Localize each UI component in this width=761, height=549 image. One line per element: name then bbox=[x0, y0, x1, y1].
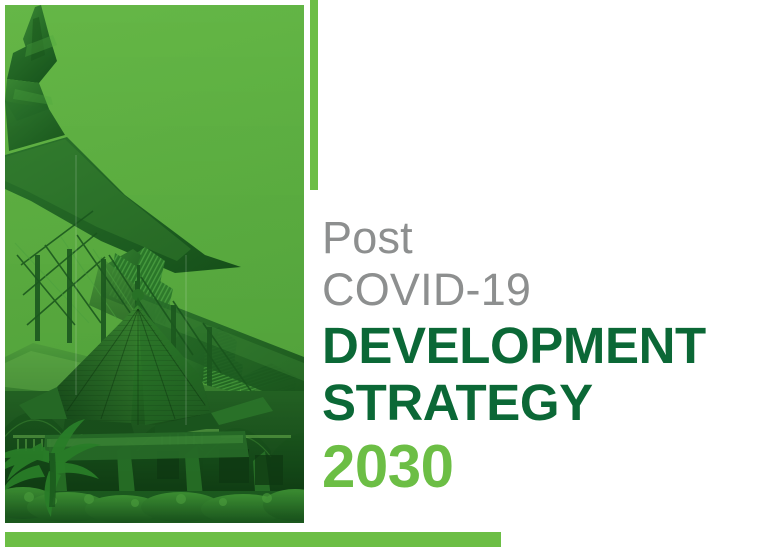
title-headline-line-2: STRATEGY bbox=[322, 373, 742, 432]
title-year: 2030 bbox=[322, 434, 742, 500]
title-eyebrow-line-1: Post bbox=[322, 212, 742, 264]
cover-title-block: Post COVID-19 DEVELOPMENT STRATEGY 2030 bbox=[322, 212, 742, 500]
cover-photo bbox=[5, 5, 304, 523]
cover-page: Post COVID-19 DEVELOPMENT STRATEGY 2030 bbox=[0, 0, 761, 549]
vertical-accent-rule bbox=[310, 0, 318, 190]
bottom-accent-bar bbox=[5, 532, 501, 547]
title-headline-line-1: DEVELOPMENT bbox=[322, 316, 742, 375]
title-eyebrow-line-2: COVID-19 bbox=[322, 264, 742, 316]
photo-building-illustration bbox=[5, 5, 304, 523]
